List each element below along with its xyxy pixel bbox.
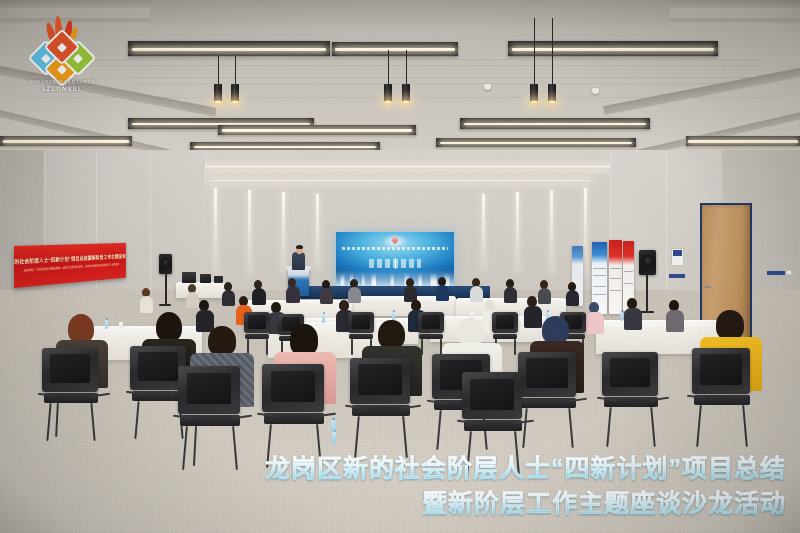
water-bottle [105, 320, 108, 329]
screen-headline-text [342, 247, 448, 250]
logo-english-text: SZLGNSSL [16, 86, 108, 93]
pendant-spotlight [384, 84, 392, 102]
photo-caption: 龙岗区新的社会阶层人士“四新计划”项目总结 暨新阶层工作主题座谈沙龙活动 [265, 453, 786, 521]
caption-line-2: 暨新阶层工作主题座谈沙龙活动 [265, 488, 786, 521]
sprinkler-head [592, 88, 599, 94]
water-bottle-floor [332, 432, 336, 444]
wall-sign-right-panel [786, 270, 792, 275]
speaker-person [292, 252, 305, 270]
water-bottle-floor [331, 420, 335, 432]
ceiling-light-fixture [332, 42, 458, 56]
pendant-spotlight [548, 84, 556, 102]
ceiling-light-fixture [460, 118, 650, 129]
sprinkler-head [484, 84, 491, 90]
pendant-spotlight [530, 84, 538, 102]
pa-speaker-left [159, 254, 172, 274]
pa-speaker-right [639, 250, 656, 275]
wall-sign-right [767, 271, 785, 275]
av-control-table [176, 282, 226, 298]
pendant-spotlight [231, 84, 239, 102]
av-monitor [182, 272, 196, 283]
logo-chinese-text: 深圳市龙岗区新的社会阶层人士联谊会 [16, 80, 108, 85]
caption-line-1: 龙岗区新的社会阶层人士“四新计划”项目总结 [265, 453, 786, 486]
wall-sign-blue-strip [669, 274, 685, 278]
ceiling-light-fixture [686, 136, 800, 146]
av-laptop [200, 274, 211, 283]
ceiling-light-fixture [128, 41, 330, 56]
diamond-cluster-icon [33, 34, 91, 82]
wall-sign-blue-top [673, 250, 682, 256]
speaker-head [296, 246, 303, 254]
organization-logo: 深圳市龙岗区新的社会阶层人士联谊会 SZLGNSSL [16, 8, 108, 94]
rollup-banner-red [609, 240, 622, 314]
paper-cup [119, 322, 123, 328]
ceiling-light-fixture [218, 125, 416, 135]
ceiling-light-fixture [508, 41, 718, 56]
av-equipment [214, 276, 223, 283]
pendant-spotlight [402, 84, 410, 102]
pendant-spotlight [214, 84, 222, 102]
ceiling-light-fixture [0, 136, 132, 146]
event-photo: 龙岗区新的社会阶层人士“四新计划”项目总结暨新阶层工作主题座谈沙龙活动 主办单位… [0, 0, 800, 533]
water-bottle [620, 312, 623, 321]
ceiling-light-fixture [436, 138, 636, 147]
door-handle[interactable] [704, 286, 711, 288]
water-bottle [322, 314, 325, 323]
